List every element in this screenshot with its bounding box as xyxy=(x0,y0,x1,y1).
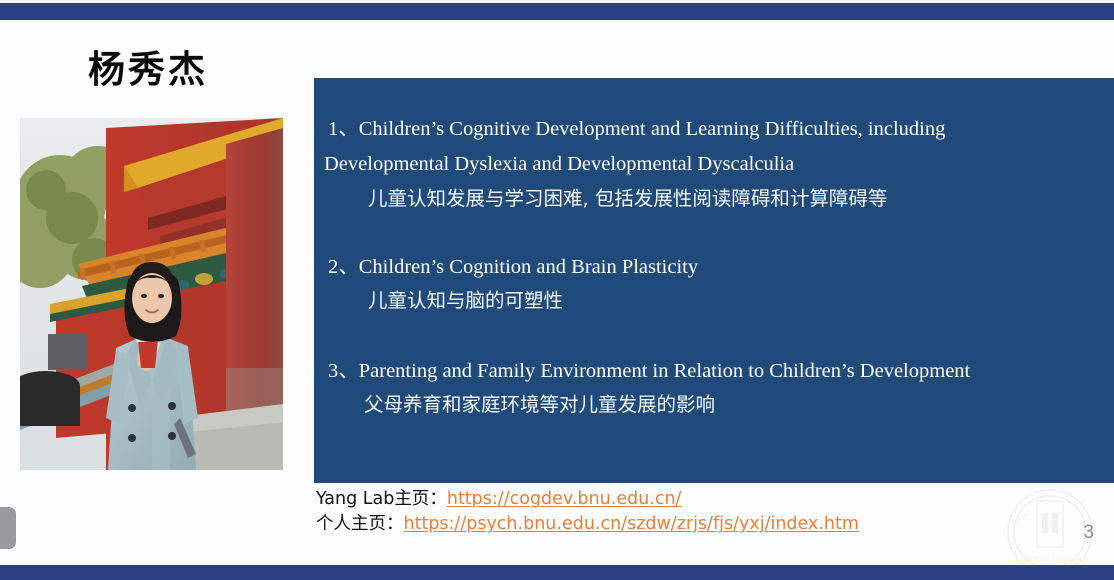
lab-homepage-row: Yang Lab主页：https://cogdev.bnu.edu.cn/ xyxy=(316,487,859,512)
topic-3-marker: 3、 xyxy=(328,360,359,382)
bottom-brand-bar xyxy=(0,565,1114,580)
topic-2-en-text: Children’s Cognition and Brain Plasticit… xyxy=(359,256,698,278)
lab-homepage-link[interactable]: https://cogdev.bnu.edu.cn/ xyxy=(447,489,682,509)
topic-1-en-line-1: 1、Children’s Cognitive Development and L… xyxy=(320,112,1098,147)
top-brand-bar xyxy=(0,3,1114,20)
presenter-name: 杨秀杰 xyxy=(88,51,208,88)
topic-1-en-text: Children’s Cognitive Development and Lea… xyxy=(359,118,946,140)
lab-homepage-label: Yang Lab主页： xyxy=(316,489,447,509)
drawer-handle-icon[interactable] xyxy=(0,507,16,549)
topic-2-marker: 2、 xyxy=(328,256,359,278)
topic-1-en-line-2: Developmental Dyslexia and Developmental… xyxy=(320,147,1098,182)
topic-2-en-line-1: 2、Children’s Cognition and Brain Plastic… xyxy=(320,250,1098,285)
topic-3-en-text: Parenting and Family Environment in Rela… xyxy=(359,360,971,382)
topic-item-3: 3、Parenting and Family Environment in Re… xyxy=(320,316,1098,420)
topic-item-2: 2、Children’s Cognition and Brain Plastic… xyxy=(320,214,1098,316)
personal-homepage-label: 个人主页： xyxy=(316,514,404,534)
topic-2-cn: 儿童认知与脑的可塑性 xyxy=(320,285,1098,316)
links-block: Yang Lab主页：https://cogdev.bnu.edu.cn/ 个人… xyxy=(316,487,859,537)
page-number: 3 xyxy=(1083,522,1094,544)
topic-3-cn: 父母养育和家庭环境等对儿童发展的影响 xyxy=(320,389,1098,420)
topic-1-cn: 儿童认知发展与学习困难, 包括发展性阅读障碍和计算障碍等 xyxy=(320,183,1098,214)
topic-item-1: 1、Children’s Cognitive Development and L… xyxy=(320,112,1098,214)
presentation-slide: 杨秀杰 xyxy=(0,0,1114,580)
personal-homepage-link[interactable]: https://psych.bnu.edu.cn/szdw/zrjs/fjs/y… xyxy=(404,514,859,534)
research-topics-panel: 1、Children’s Cognitive Development and L… xyxy=(314,78,1114,483)
svg-text:NORMAL UNIVERSITY: NORMAL UNIVERSITY xyxy=(1026,557,1089,563)
topic-3-en-line-1: 3、Parenting and Family Environment in Re… xyxy=(320,354,1098,389)
presenter-photo xyxy=(20,118,283,470)
topic-1-marker: 1、 xyxy=(328,118,359,140)
personal-homepage-row: 个人主页：https://psych.bnu.edu.cn/szdw/zrjs/… xyxy=(316,512,859,537)
